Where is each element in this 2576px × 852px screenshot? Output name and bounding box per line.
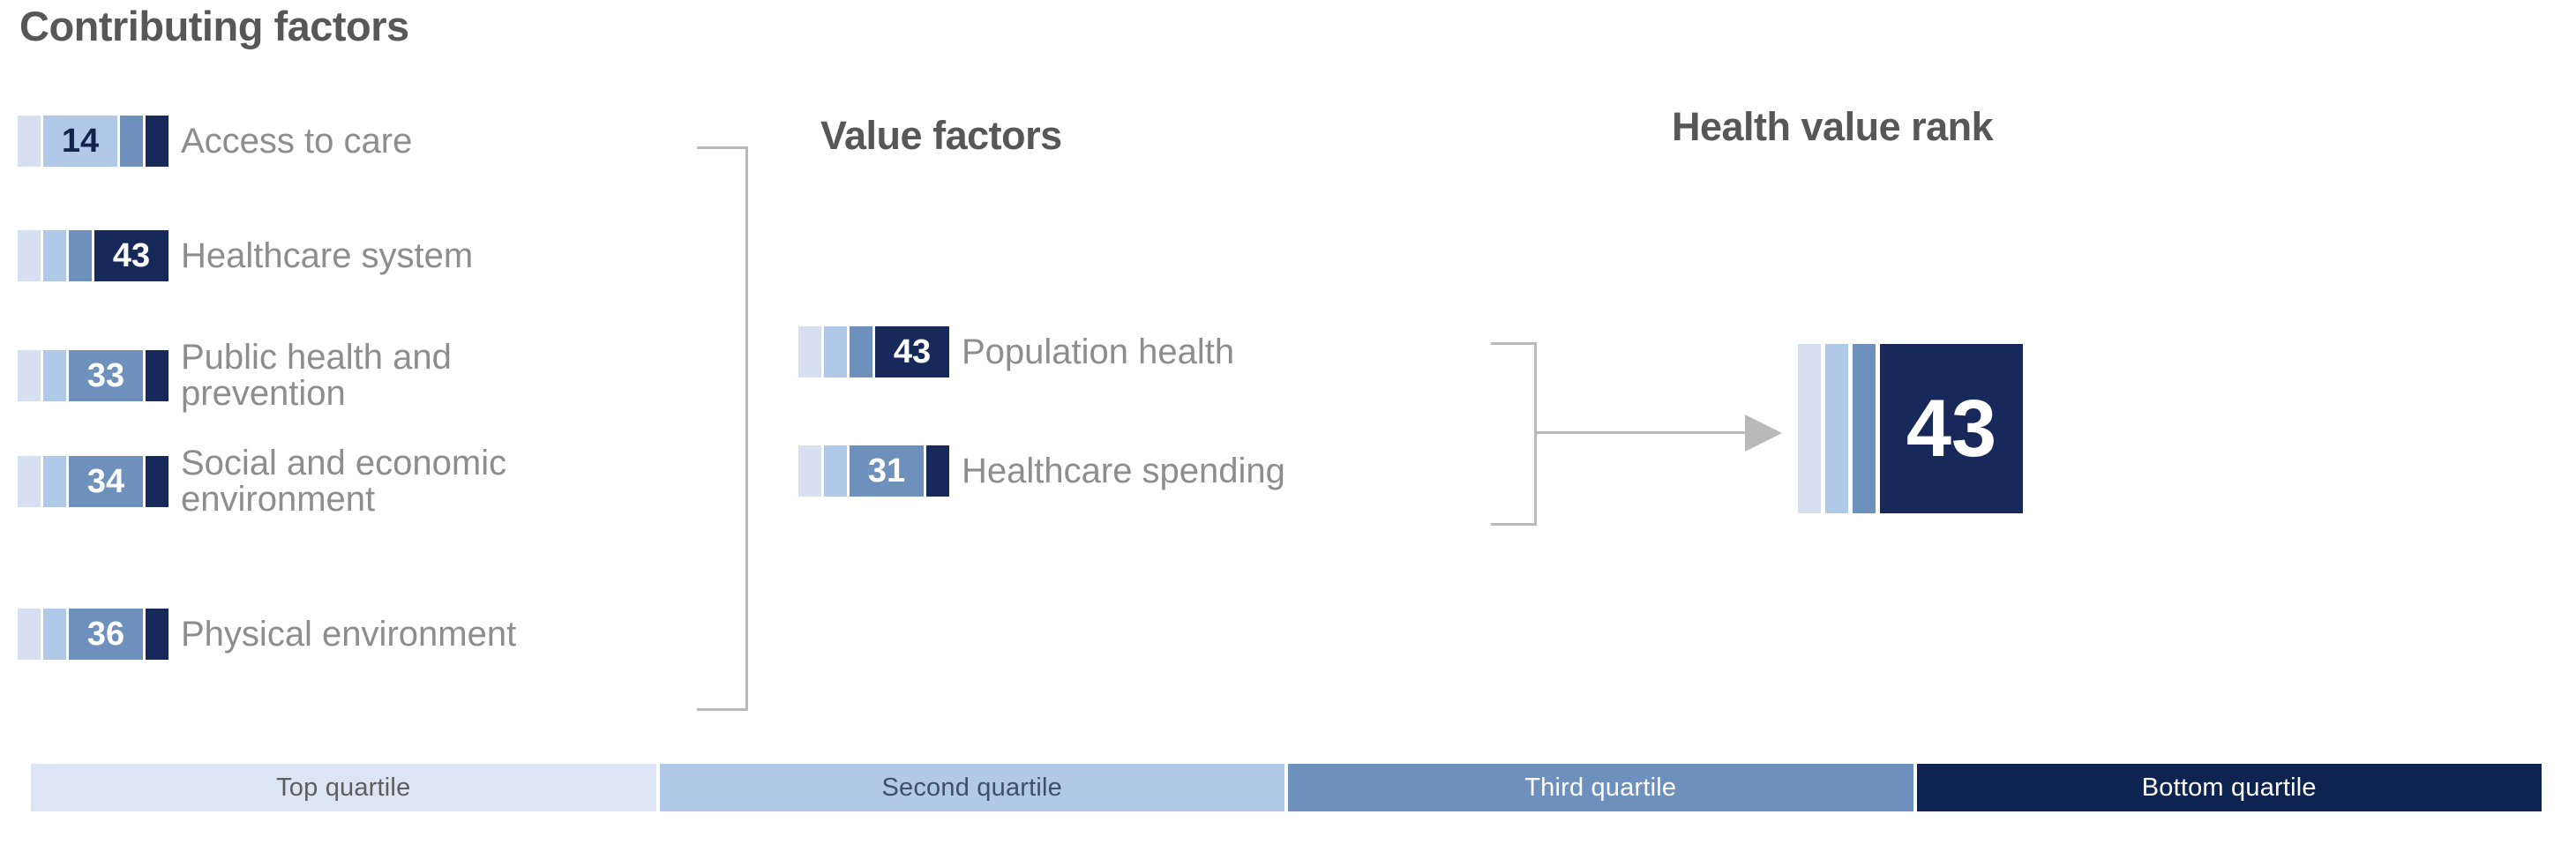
quartile-segment-4-active: 43 (1880, 344, 2023, 513)
quartile-segment-2 (43, 456, 66, 507)
factor-label: Social and economic environment (181, 445, 506, 518)
legend-item-bottom-quartile: Bottom quartile (1917, 764, 2542, 811)
quartile-segment-1 (18, 609, 41, 660)
quartile-segment-3 (120, 116, 143, 167)
arrow-line (1537, 431, 1749, 434)
health-value-rank-bar: 43 (1798, 344, 2023, 513)
factor-label: Physical environment (181, 617, 516, 652)
quartile-segment-1 (1798, 344, 1821, 513)
page-title: Contributing factors (19, 2, 409, 50)
quartile-segment-3-active: 33 (69, 350, 143, 401)
quartile-segment-2 (824, 445, 847, 497)
quartile-segment-2 (824, 326, 847, 377)
factor-label: Public health and prevention (181, 340, 452, 412)
quartile-segment-2 (43, 230, 66, 281)
legend-item-top-quartile: Top quartile (31, 764, 656, 811)
factor-label: Access to care (181, 123, 412, 159)
quartile-segment-2 (43, 609, 66, 660)
list-item[interactable]: 33 Public health and prevention (18, 340, 452, 412)
list-item[interactable]: 14 Access to care (18, 116, 412, 167)
quartile-segment-4 (146, 456, 168, 507)
list-item[interactable]: 43 Population health (798, 326, 1234, 377)
infographic-canvas: Contributing factors Value factors Healt… (0, 0, 2576, 852)
quartile-segment-3 (850, 326, 872, 377)
quartile-segment-1 (798, 445, 821, 497)
factor-label: Healthcare system (181, 238, 473, 273)
quartile-segment-4-active: 43 (94, 230, 168, 281)
arrow-right-icon (1745, 415, 1782, 452)
quartile-segment-1 (18, 116, 41, 167)
quartile-bar: 34 (18, 456, 168, 507)
section-title-health-value-rank: Health value rank (1672, 104, 1993, 150)
quartile-segment-2 (1825, 344, 1848, 513)
legend-item-second-quartile: Second quartile (660, 764, 1285, 811)
quartile-segment-3 (69, 230, 92, 281)
quartile-bar: 43 (798, 326, 949, 377)
quartile-segment-3-active: 31 (850, 445, 924, 497)
quartile-bar: 14 (18, 116, 168, 167)
quartile-segment-4 (146, 609, 168, 660)
quartile-segment-1 (798, 326, 821, 377)
quartile-bar: 36 (18, 609, 168, 660)
list-item[interactable]: 36 Physical environment (18, 609, 516, 660)
quartile-bar: 43 (18, 230, 168, 281)
quartile-segment-4-active: 43 (875, 326, 949, 377)
quartile-segment-3-active: 34 (69, 456, 143, 507)
quartile-segment-2-active: 14 (43, 116, 117, 167)
bracket-contributing-factors (697, 146, 748, 711)
quartile-segment-1 (18, 230, 41, 281)
bracket-value-factors (1491, 342, 1537, 526)
list-item[interactable]: 31 Healthcare spending (798, 445, 1285, 497)
quartile-segment-3-active: 36 (69, 609, 143, 660)
quartile-segment-4 (146, 350, 168, 401)
factor-label: Population health (962, 334, 1234, 370)
quartile-bar: 31 (798, 445, 949, 497)
quartile-legend: Top quartile Second quartile Third quart… (31, 764, 2542, 811)
legend-item-third-quartile: Third quartile (1288, 764, 1913, 811)
quartile-segment-3 (1853, 344, 1876, 513)
quartile-segment-4 (146, 116, 168, 167)
section-title-value-factors: Value factors (820, 113, 1062, 159)
quartile-segment-2 (43, 350, 66, 401)
quartile-segment-4 (926, 445, 949, 497)
quartile-segment-1 (18, 350, 41, 401)
list-item[interactable]: 34 Social and economic environment (18, 445, 506, 518)
quartile-bar: 33 (18, 350, 168, 401)
factor-label: Healthcare spending (962, 453, 1285, 489)
quartile-segment-1 (18, 456, 41, 507)
list-item[interactable]: 43 Healthcare system (18, 230, 473, 281)
